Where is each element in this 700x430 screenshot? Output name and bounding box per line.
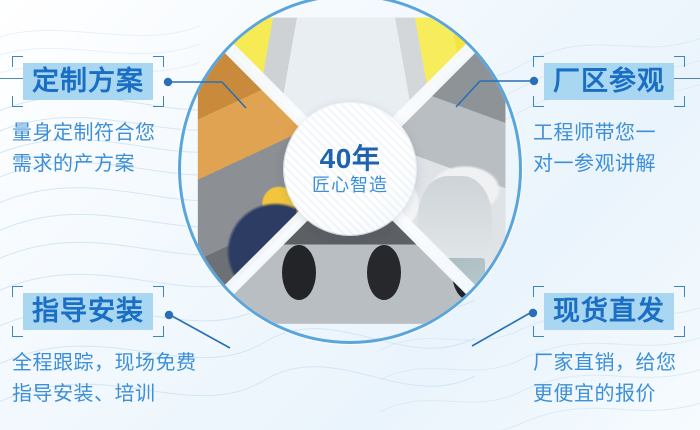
feature-title-frame: 定制方案 bbox=[12, 56, 164, 107]
corner-bracket-icon bbox=[674, 96, 685, 107]
feature-title-frame: 指导安装 bbox=[12, 286, 164, 337]
corner-bracket-icon bbox=[12, 286, 23, 297]
center-subline: 匠心智造 bbox=[312, 176, 388, 194]
corner-bracket-icon bbox=[674, 56, 685, 67]
feature-title: 定制方案 bbox=[23, 63, 153, 100]
feature-description-line: 指导安装、培训 bbox=[12, 379, 197, 409]
corner-bracket-icon bbox=[533, 326, 544, 337]
corner-bracket-icon bbox=[153, 96, 164, 107]
feature-title: 现货直发 bbox=[544, 293, 674, 330]
corner-bracket-icon bbox=[12, 56, 23, 67]
feature-title: 厂区参观 bbox=[544, 63, 674, 100]
feature-description-line: 工程师带您一 bbox=[533, 118, 685, 148]
feature-description: 厂家直销，给您 更便宜的报价 bbox=[533, 348, 685, 409]
corner-bracket-icon bbox=[12, 96, 23, 107]
feature-description: 工程师带您一 对一参观讲解 bbox=[533, 118, 685, 179]
center-badge: 40年 匠心智造 bbox=[284, 103, 416, 235]
connector-bottom-right bbox=[452, 300, 542, 350]
feature-factory-visit[interactable]: 厂区参观 工程师带您一 对一参观讲解 bbox=[533, 56, 685, 179]
corner-bracket-icon bbox=[533, 96, 544, 107]
connector-top-right bbox=[452, 64, 542, 114]
feature-description-line: 对一参观讲解 bbox=[533, 149, 685, 179]
feature-description-line: 量身定制符合您 bbox=[12, 118, 164, 148]
connector-top-left bbox=[160, 64, 250, 114]
corner-bracket-icon bbox=[153, 286, 164, 297]
corner-bracket-icon bbox=[533, 286, 544, 297]
feature-custom-plan[interactable]: 定制方案 量身定制符合您 需求的产方案 bbox=[12, 56, 164, 179]
feature-title-frame: 现货直发 bbox=[533, 286, 685, 337]
corner-bracket-icon bbox=[674, 286, 685, 297]
feature-title: 指导安装 bbox=[23, 293, 153, 330]
center-headline: 40年 bbox=[320, 145, 381, 173]
feature-description: 量身定制符合您 需求的产方案 bbox=[12, 118, 164, 179]
feature-description-line: 全程跟踪，现场免费 bbox=[12, 348, 197, 378]
feature-title-frame: 厂区参观 bbox=[533, 56, 685, 107]
photo-collage: 40年 匠心智造 bbox=[178, 0, 522, 344]
corner-bracket-icon bbox=[12, 326, 23, 337]
feature-install-guide[interactable]: 指导安装 全程跟踪，现场免费 指导安装、培训 bbox=[12, 286, 197, 409]
corner-bracket-icon bbox=[674, 326, 685, 337]
corner-bracket-icon bbox=[153, 326, 164, 337]
feature-description-line: 厂家直销，给您 bbox=[533, 348, 685, 378]
feature-description: 全程跟踪，现场免费 指导安装、培训 bbox=[12, 348, 197, 409]
feature-description-line: 需求的产方案 bbox=[12, 149, 164, 179]
feature-spot-shipping[interactable]: 现货直发 厂家直销，给您 更便宜的报价 bbox=[533, 286, 685, 409]
promo-banner: 40年 匠心智造 定制方案 量身定制符合您 需求的产方案 bbox=[0, 0, 700, 430]
corner-bracket-icon bbox=[153, 56, 164, 67]
feature-description-line: 更便宜的报价 bbox=[533, 379, 685, 409]
corner-bracket-icon bbox=[533, 56, 544, 67]
